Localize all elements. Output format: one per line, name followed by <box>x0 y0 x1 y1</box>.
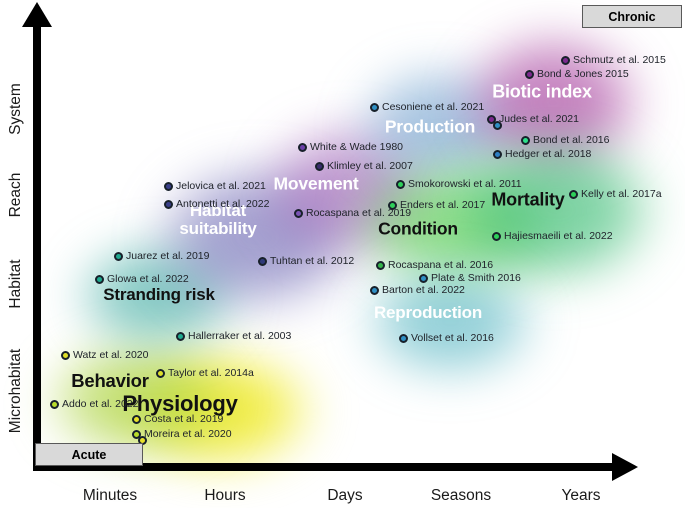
point-marker-icon <box>376 261 385 270</box>
point-marker-icon <box>521 136 530 145</box>
data-point[interactable]: Bond et al. 2016 <box>521 134 609 146</box>
point-marker-icon <box>156 369 165 378</box>
x-axis-arrowhead <box>612 453 638 481</box>
x-axis-tick-years: Years <box>561 487 600 505</box>
point-citation-label: Juarez et al. 2019 <box>126 250 209 262</box>
point-marker-icon <box>569 190 578 199</box>
point-citation-label: Moreira et al. 2020 <box>144 428 232 440</box>
point-citation-label: Schmutz et al. 2015 <box>573 54 666 66</box>
data-point[interactable]: Judes et al. 2021 <box>487 113 579 125</box>
point-citation-label: Enders et al. 2017 <box>400 199 485 211</box>
point-marker-icon <box>487 115 496 124</box>
point-marker-icon <box>396 180 405 189</box>
y-axis-line <box>33 22 41 470</box>
point-marker-icon <box>95 275 104 284</box>
point-marker-icon <box>132 430 141 439</box>
data-point[interactable]: Moreira et al. 2020 <box>132 428 232 440</box>
point-marker-icon <box>114 252 123 261</box>
hydropeaking-effects-figure: SystemReachHabitatMicrohabitat MinutesHo… <box>0 0 685 508</box>
point-citation-label: Glowa et al. 2022 <box>107 273 189 285</box>
data-point[interactable]: Jelovica et al. 2021 <box>164 180 266 192</box>
point-citation-label: Bond et al. 2016 <box>533 134 609 146</box>
point-marker-icon <box>493 150 502 159</box>
cluster-label-biotic-index: Biotic index <box>492 82 592 103</box>
data-point[interactable]: Juarez et al. 2019 <box>114 250 209 262</box>
x-axis-tick-hours: Hours <box>204 487 245 505</box>
cluster-label-behavior: Behavior <box>71 370 149 392</box>
data-point[interactable]: Bond & Jones 2015 <box>525 68 629 80</box>
data-point[interactable]: Antonetti et al. 2022 <box>164 198 269 210</box>
data-point[interactable]: Taylor et al. 2014a <box>156 367 254 379</box>
point-citation-label: Jelovica et al. 2021 <box>176 180 266 192</box>
cluster-label-production: Production <box>385 117 475 138</box>
data-point[interactable]: Hallerraker et al. 2003 <box>176 330 291 342</box>
point-citation-label: Hajiesmaeili et al. 2022 <box>504 230 613 242</box>
point-marker-icon <box>258 257 267 266</box>
point-marker-secondary-icon <box>493 121 502 130</box>
point-citation-label: Hallerraker et al. 2003 <box>188 330 291 342</box>
point-marker-icon <box>50 400 59 409</box>
data-point[interactable]: Addo et al. 2022 <box>50 398 138 410</box>
point-marker-icon <box>525 70 534 79</box>
point-citation-label: Plate & Smith 2016 <box>431 272 521 284</box>
data-point[interactable]: Watz et al. 2020 <box>61 349 148 361</box>
point-citation-label: Klimley et al. 2007 <box>327 160 413 172</box>
data-point[interactable]: Hajiesmaeili et al. 2022 <box>492 230 613 242</box>
point-citation-label: Kelly et al. 2017a <box>581 188 662 200</box>
data-point[interactable]: Schmutz et al. 2015 <box>561 54 666 66</box>
cluster-label-mortality: Mortality <box>491 190 564 211</box>
point-marker-icon <box>561 56 570 65</box>
x-axis-tick-days: Days <box>327 487 362 505</box>
data-point[interactable]: Smokorowski et al. 2011 <box>396 178 522 190</box>
point-citation-label: Costa et al. 2019 <box>144 413 223 425</box>
data-point[interactable]: Cesoniene et al. 2021 <box>370 101 484 113</box>
data-point[interactable]: Hedger et al. 2018 <box>493 148 591 160</box>
data-point[interactable]: Glowa et al. 2022 <box>95 273 189 285</box>
cluster-label-reproduction: Reproduction <box>374 303 482 323</box>
point-citation-label: Watz et al. 2020 <box>73 349 148 361</box>
point-citation-label: Cesoniene et al. 2021 <box>382 101 484 113</box>
data-point[interactable]: Rocaspana et al. 2019 <box>294 207 411 219</box>
point-citation-label: Judes et al. 2021 <box>499 113 579 125</box>
point-marker-icon <box>294 209 303 218</box>
y-axis-arrowhead <box>22 2 52 27</box>
data-point[interactable]: Plate & Smith 2016 <box>419 272 521 284</box>
point-citation-label: Antonetti et al. 2022 <box>176 198 269 210</box>
point-citation-label: Rocaspana et al. 2019 <box>306 207 411 219</box>
point-citation-label: Rocaspana et al. 2016 <box>388 259 493 271</box>
data-point[interactable]: Costa et al. 2019 <box>132 413 223 425</box>
point-citation-label: Tuhtan et al. 2012 <box>270 255 354 267</box>
point-citation-label: Barton et al. 2022 <box>382 284 465 296</box>
cluster-label-stranding-risk: Stranding risk <box>103 285 215 305</box>
point-citation-label: White & Wade 1980 <box>310 141 403 153</box>
point-citation-label: Taylor et al. 2014a <box>168 367 254 379</box>
legend-box-chronic: Chronic <box>582 5 682 28</box>
point-marker-icon <box>132 415 141 424</box>
legend-box-acute: Acute <box>35 443 143 466</box>
data-point[interactable]: Vollset et al. 2016 <box>399 332 494 344</box>
cluster-label-condition: Condition <box>378 219 458 240</box>
point-marker-icon <box>370 286 379 295</box>
y-axis-tick-microhabitat: Microhabitat <box>7 336 25 446</box>
point-citation-label: Bond & Jones 2015 <box>537 68 629 80</box>
data-point[interactable]: Kelly et al. 2017a <box>569 188 662 200</box>
point-marker-icon <box>298 143 307 152</box>
point-marker-icon <box>315 162 324 171</box>
point-marker-icon <box>61 351 70 360</box>
cluster-label-movement: Movement <box>274 174 359 195</box>
point-marker-icon <box>492 232 501 241</box>
point-marker-icon <box>419 274 428 283</box>
point-citation-label: Smokorowski et al. 2011 <box>408 178 522 190</box>
point-marker-icon <box>399 334 408 343</box>
y-axis-tick-habitat: Habitat <box>7 229 25 339</box>
point-marker-icon <box>164 182 173 191</box>
point-citation-label: Addo et al. 2022 <box>62 398 138 410</box>
data-point[interactable]: White & Wade 1980 <box>298 141 403 153</box>
data-point[interactable]: Klimley et al. 2007 <box>315 160 413 172</box>
data-point[interactable]: Barton et al. 2022 <box>370 284 465 296</box>
data-point[interactable]: Tuhtan et al. 2012 <box>258 255 354 267</box>
point-citation-label: Vollset et al. 2016 <box>411 332 494 344</box>
data-point[interactable]: Rocaspana et al. 2016 <box>376 259 493 271</box>
point-marker-icon <box>176 332 185 341</box>
point-marker-icon <box>164 200 173 209</box>
x-axis-tick-seasons: Seasons <box>431 487 491 505</box>
point-citation-label: Hedger et al. 2018 <box>505 148 591 160</box>
point-marker-icon <box>370 103 379 112</box>
x-axis-tick-minutes: Minutes <box>83 487 137 505</box>
